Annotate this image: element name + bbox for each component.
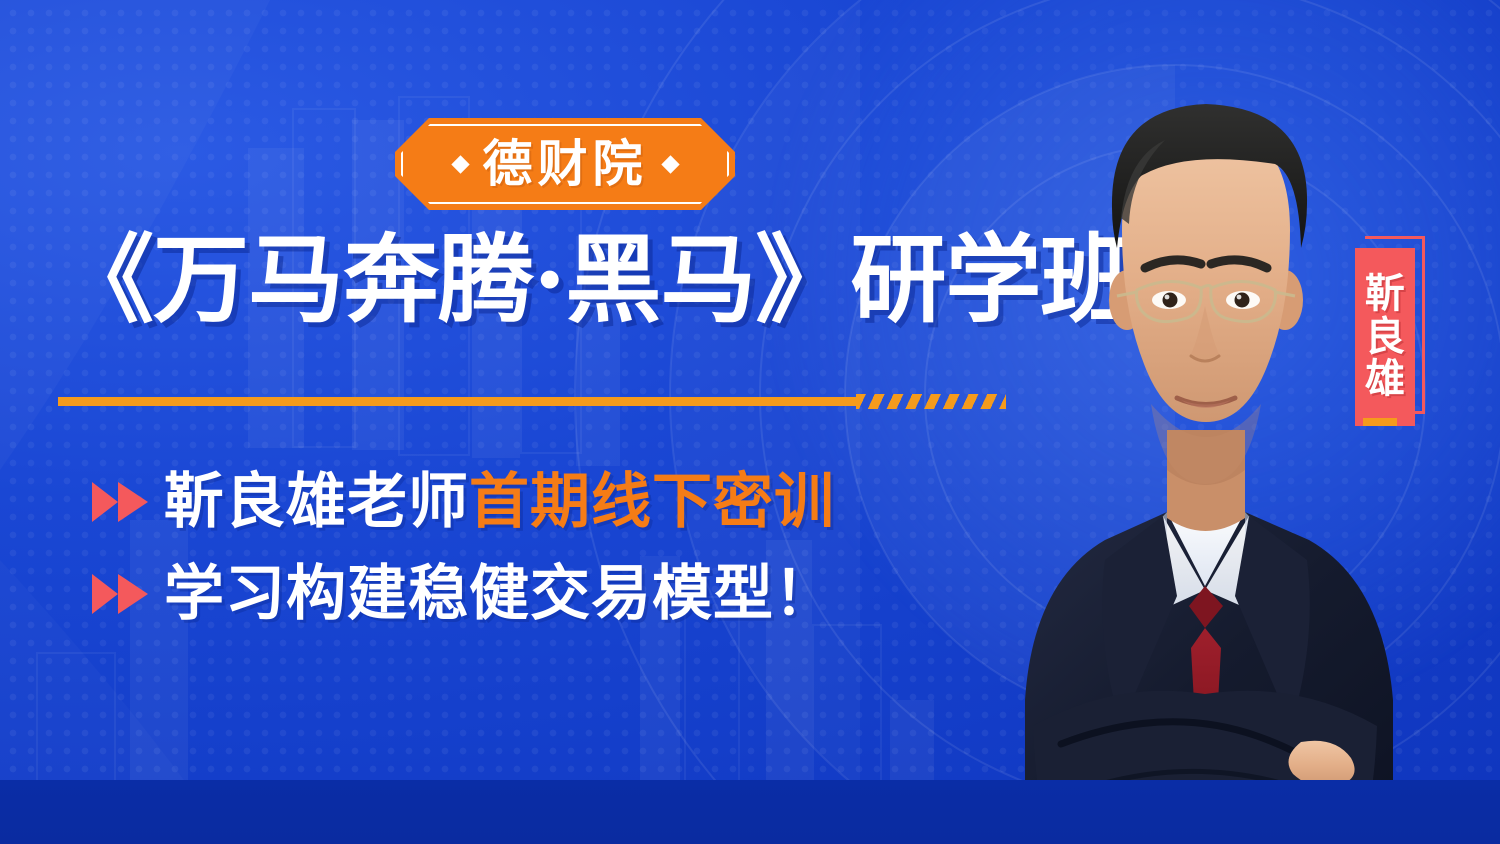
content-column: 德财院 《万马奔腾·黑马》研学班 靳良雄老师首期线下密训 学习构建稳健交易模型！: [0, 0, 1060, 844]
speaker-name: 靳 良 雄: [1355, 248, 1415, 426]
brand-plate: 德财院: [395, 118, 735, 210]
speaker-name-char: 良: [1365, 316, 1405, 358]
page-title: 《万马奔腾·黑马》研学班: [58, 228, 1048, 332]
bullet-text: 学习构建稳健交易模型！: [164, 564, 835, 624]
bullet-highlight: 首期线下密训: [469, 467, 835, 537]
speaker-name-badge: 靳 良 雄: [1355, 248, 1425, 438]
bullet-lead: 学习构建稳健交易模型！: [164, 559, 835, 629]
divider: [58, 394, 1006, 409]
divider-solid: [58, 397, 858, 406]
speaker-name-char: 靳: [1365, 273, 1405, 315]
brand-plate-fill: 德财院: [395, 118, 735, 210]
brand-name: 德财院: [483, 139, 648, 189]
diamond-icon: [661, 155, 679, 173]
brand-plate-inner: 德财院: [454, 139, 677, 189]
list-item: 学习构建稳健交易模型！: [92, 554, 835, 634]
speaker-name-char: 雄: [1365, 358, 1405, 400]
bullet-list: 靳良雄老师首期线下密训 学习构建稳健交易模型！: [92, 462, 835, 646]
double-chevron-right-icon: [92, 574, 148, 614]
double-chevron-right-icon: [92, 482, 148, 522]
list-item: 靳良雄老师首期线下密训: [92, 462, 835, 542]
promo-banner: 德财院 《万马奔腾·黑马》研学班 靳良雄老师首期线下密训 学习构建稳健交易模型！: [0, 0, 1500, 844]
bottom-band: [0, 780, 1500, 844]
diamond-icon: [451, 155, 469, 173]
bullet-lead: 靳良雄老师: [164, 467, 469, 537]
bullet-text: 靳良雄老师首期线下密训: [164, 472, 835, 532]
